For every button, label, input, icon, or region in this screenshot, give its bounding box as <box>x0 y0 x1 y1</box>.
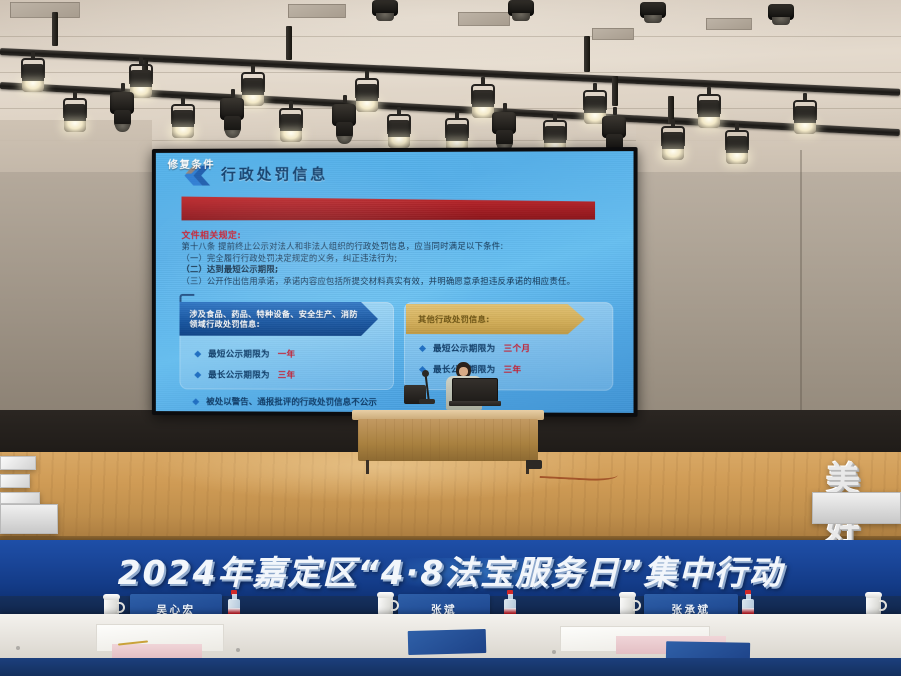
bullet-prefix: 最长公示期限为 <box>208 369 270 381</box>
bullet-highlight: 一年 <box>278 348 296 360</box>
stage-par-light <box>168 102 198 142</box>
tea-mug <box>620 592 638 616</box>
folder <box>408 629 487 655</box>
conference-hall-photo: 行政处罚信息 修复条件 文件相关规定: 第十八条 提前终止公示对法人和非法人组织… <box>0 0 901 676</box>
doc-line: （一）完全履行行政处罚决定规定的义务，纠正违法行为; <box>181 252 613 264</box>
tea-mug <box>378 592 396 616</box>
led-screen-surface: 行政处罚信息 修复条件 文件相关规定: 第十八条 提前终止公示对法人和非法人组织… <box>156 151 634 413</box>
truss-hanger <box>52 12 58 46</box>
moving-head-light <box>108 88 136 134</box>
ceiling-mounted-light <box>508 0 534 22</box>
bullet-item: 最短公示期限为 一年 <box>195 348 295 360</box>
wall-left <box>0 120 152 460</box>
bullet-prefix: 最短公示期限为 <box>433 342 495 354</box>
slide-doc-heading: 文件相关规定: <box>181 228 241 241</box>
doc-line: （三）公开作出信用承诺，承诺内容应包括所提交材料真实有效，并明确愿意承担违反承诺… <box>181 276 613 288</box>
wall-seam <box>800 150 802 450</box>
stage-par-light <box>722 128 752 168</box>
wall-right <box>636 120 901 460</box>
stage-par-light <box>60 96 90 136</box>
pink-document <box>112 644 202 658</box>
presenter-desk <box>352 410 544 472</box>
doc-line: （二）达到最短公示期限; <box>181 264 613 276</box>
slide-doc-lines: 第十八条 提前终止公示对法人和非法人组织的行政处罚信息，应当同时满足以下条件: … <box>181 241 613 288</box>
stage-par-light <box>694 92 724 132</box>
diamond-bullet-icon <box>419 345 426 352</box>
tea-mug <box>866 592 884 616</box>
doc-line: 第十八条 提前终止公示对法人和非法人组织的行政处罚信息，应当同时满足以下条件: <box>181 241 613 253</box>
slide-section-banner-label: 修复条件 <box>168 157 215 172</box>
table-marker <box>236 648 240 652</box>
slide-section-banner <box>181 195 595 220</box>
stage-par-light <box>276 106 306 146</box>
left-panel-header-text: 涉及食品、药品、特种设备、安全生产、消防领域行政处罚信息: <box>180 308 379 329</box>
ceiling-vent <box>706 18 752 30</box>
diamond-bullet-icon <box>194 350 201 357</box>
stage-par-light <box>384 112 414 152</box>
presenter-face <box>459 367 468 376</box>
stage-par-light <box>658 124 688 164</box>
ceiling-vent <box>10 2 80 18</box>
left-panel-bullets: 最短公示期限为 一年 最长公示期限为 三年 <box>195 348 295 390</box>
truss-hanger <box>286 26 292 60</box>
bullet-highlight: 三个月 <box>504 342 531 354</box>
diamond-bullet-icon <box>192 398 199 405</box>
bullet-item: 最短公示期限为 三个月 <box>420 342 530 354</box>
ceiling-vent <box>592 28 634 40</box>
gooseneck-microphone <box>418 372 436 406</box>
slide-left-panel-header: 涉及食品、药品、特种设备、安全生产、消防领域行政处罚信息: <box>180 302 379 336</box>
foreground-table: 吴心宏 张斌 张承斌 <box>0 596 901 676</box>
bullet-highlight: 三年 <box>278 369 296 381</box>
truss-hanger <box>584 36 590 72</box>
ceiling-mounted-light <box>768 4 794 26</box>
table-marker <box>552 650 556 654</box>
bullet-item: 最长公示期限为 三年 <box>195 368 295 380</box>
slide-title: 行政处罚信息 <box>221 163 328 184</box>
table-front-edge <box>0 658 901 676</box>
stage-par-light <box>790 98 820 138</box>
stage-banner-text: 2024年嘉定区“4·8法宝服务日”集中行动 <box>0 546 901 594</box>
bullet-highlight: 三年 <box>504 363 522 375</box>
truss-hanger <box>612 76 618 106</box>
ceiling-mounted-light <box>640 2 666 24</box>
slide-right-panel-header: 其他行政处罚信息: <box>406 304 585 334</box>
diamond-bullet-icon <box>194 371 201 378</box>
right-panel-header-text: 其他行政处罚信息: <box>406 313 490 325</box>
footer-bullet-text: 被处以警告、通报批评的行政处罚信息不公示 <box>206 395 377 408</box>
ceiling-vent <box>288 4 346 18</box>
moving-head-light <box>330 100 358 146</box>
slide-footer-bullet: 被处以警告、通报批评的行政处罚信息不公示 <box>193 395 377 408</box>
table-marker <box>16 646 20 650</box>
led-screen[interactable]: 行政处罚信息 修复条件 文件相关规定: 第十八条 提前终止公示对法人和非法人组织… <box>152 147 638 417</box>
presentation-slide: 行政处罚信息 修复条件 文件相关规定: 第十八条 提前终止公示对法人和非法人组织… <box>156 151 634 413</box>
laptop <box>452 378 498 406</box>
moving-head-light <box>218 94 246 140</box>
bullet-prefix: 最短公示期限为 <box>208 348 270 360</box>
ceiling-mounted-light <box>372 0 398 22</box>
ceiling-vent <box>458 12 510 26</box>
stage-par-light <box>18 56 48 96</box>
